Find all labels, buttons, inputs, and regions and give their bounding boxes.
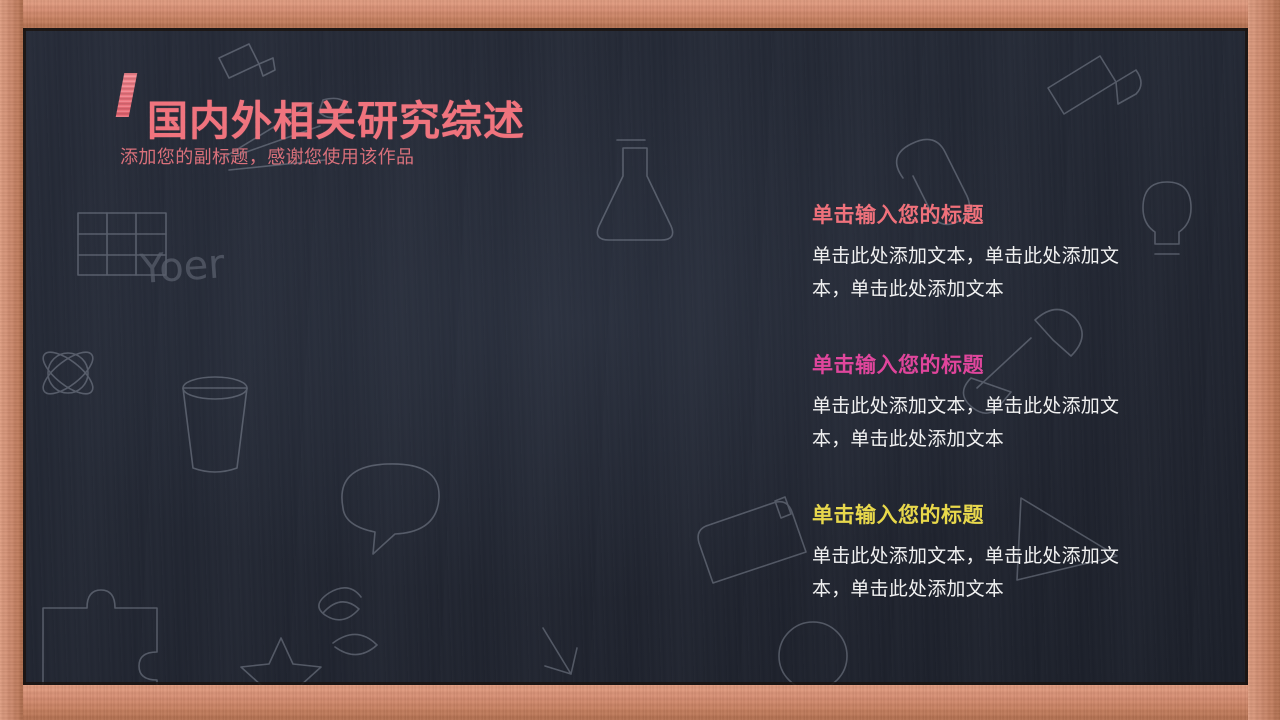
content-block-heading[interactable]: 单击输入您的标题: [812, 200, 1152, 230]
page-title: 国内外相关研究综述: [147, 95, 525, 148]
title-accent-bar: [116, 73, 138, 117]
frame-inner-edge-left: [23, 28, 26, 685]
wood-frame-bottom: [0, 685, 1280, 720]
content-block-heading[interactable]: 单击输入您的标题: [812, 500, 1152, 530]
frame-inner-edge-top: [23, 28, 1248, 31]
content-block-body[interactable]: 单击此处添加文本，单击此处添加文本，单击此处添加文本: [812, 240, 1152, 306]
blackboard-surface: Yoer: [23, 28, 1248, 685]
slide-subtitle: 添加您的副标题，感谢您使用该作品: [120, 144, 414, 172]
content-block-heading[interactable]: 单击输入您的标题: [812, 350, 1152, 380]
content-block-body[interactable]: 单击此处添加文本，单击此处添加文本，单击此处添加文本: [812, 390, 1152, 456]
content-block: 单击输入您的标题 单击此处添加文本，单击此处添加文本，单击此处添加文本: [812, 500, 1152, 606]
wood-frame-left: [0, 0, 23, 720]
content-block: 单击输入您的标题 单击此处添加文本，单击此处添加文本，单击此处添加文本: [812, 200, 1152, 306]
content-block: 单击输入您的标题 单击此处添加文本，单击此处添加文本，单击此处添加文本: [812, 350, 1152, 456]
wood-frame-top: [0, 0, 1280, 28]
svg-text:Yoer: Yoer: [137, 241, 226, 293]
content-block-body[interactable]: 单击此处添加文本，单击此处添加文本，单击此处添加文本: [812, 540, 1152, 606]
wood-frame-right: [1248, 0, 1280, 720]
content-column: 单击输入您的标题 单击此处添加文本，单击此处添加文本，单击此处添加文本 单击输入…: [812, 200, 1152, 606]
presentation-slide: Yoer: [0, 0, 1280, 720]
